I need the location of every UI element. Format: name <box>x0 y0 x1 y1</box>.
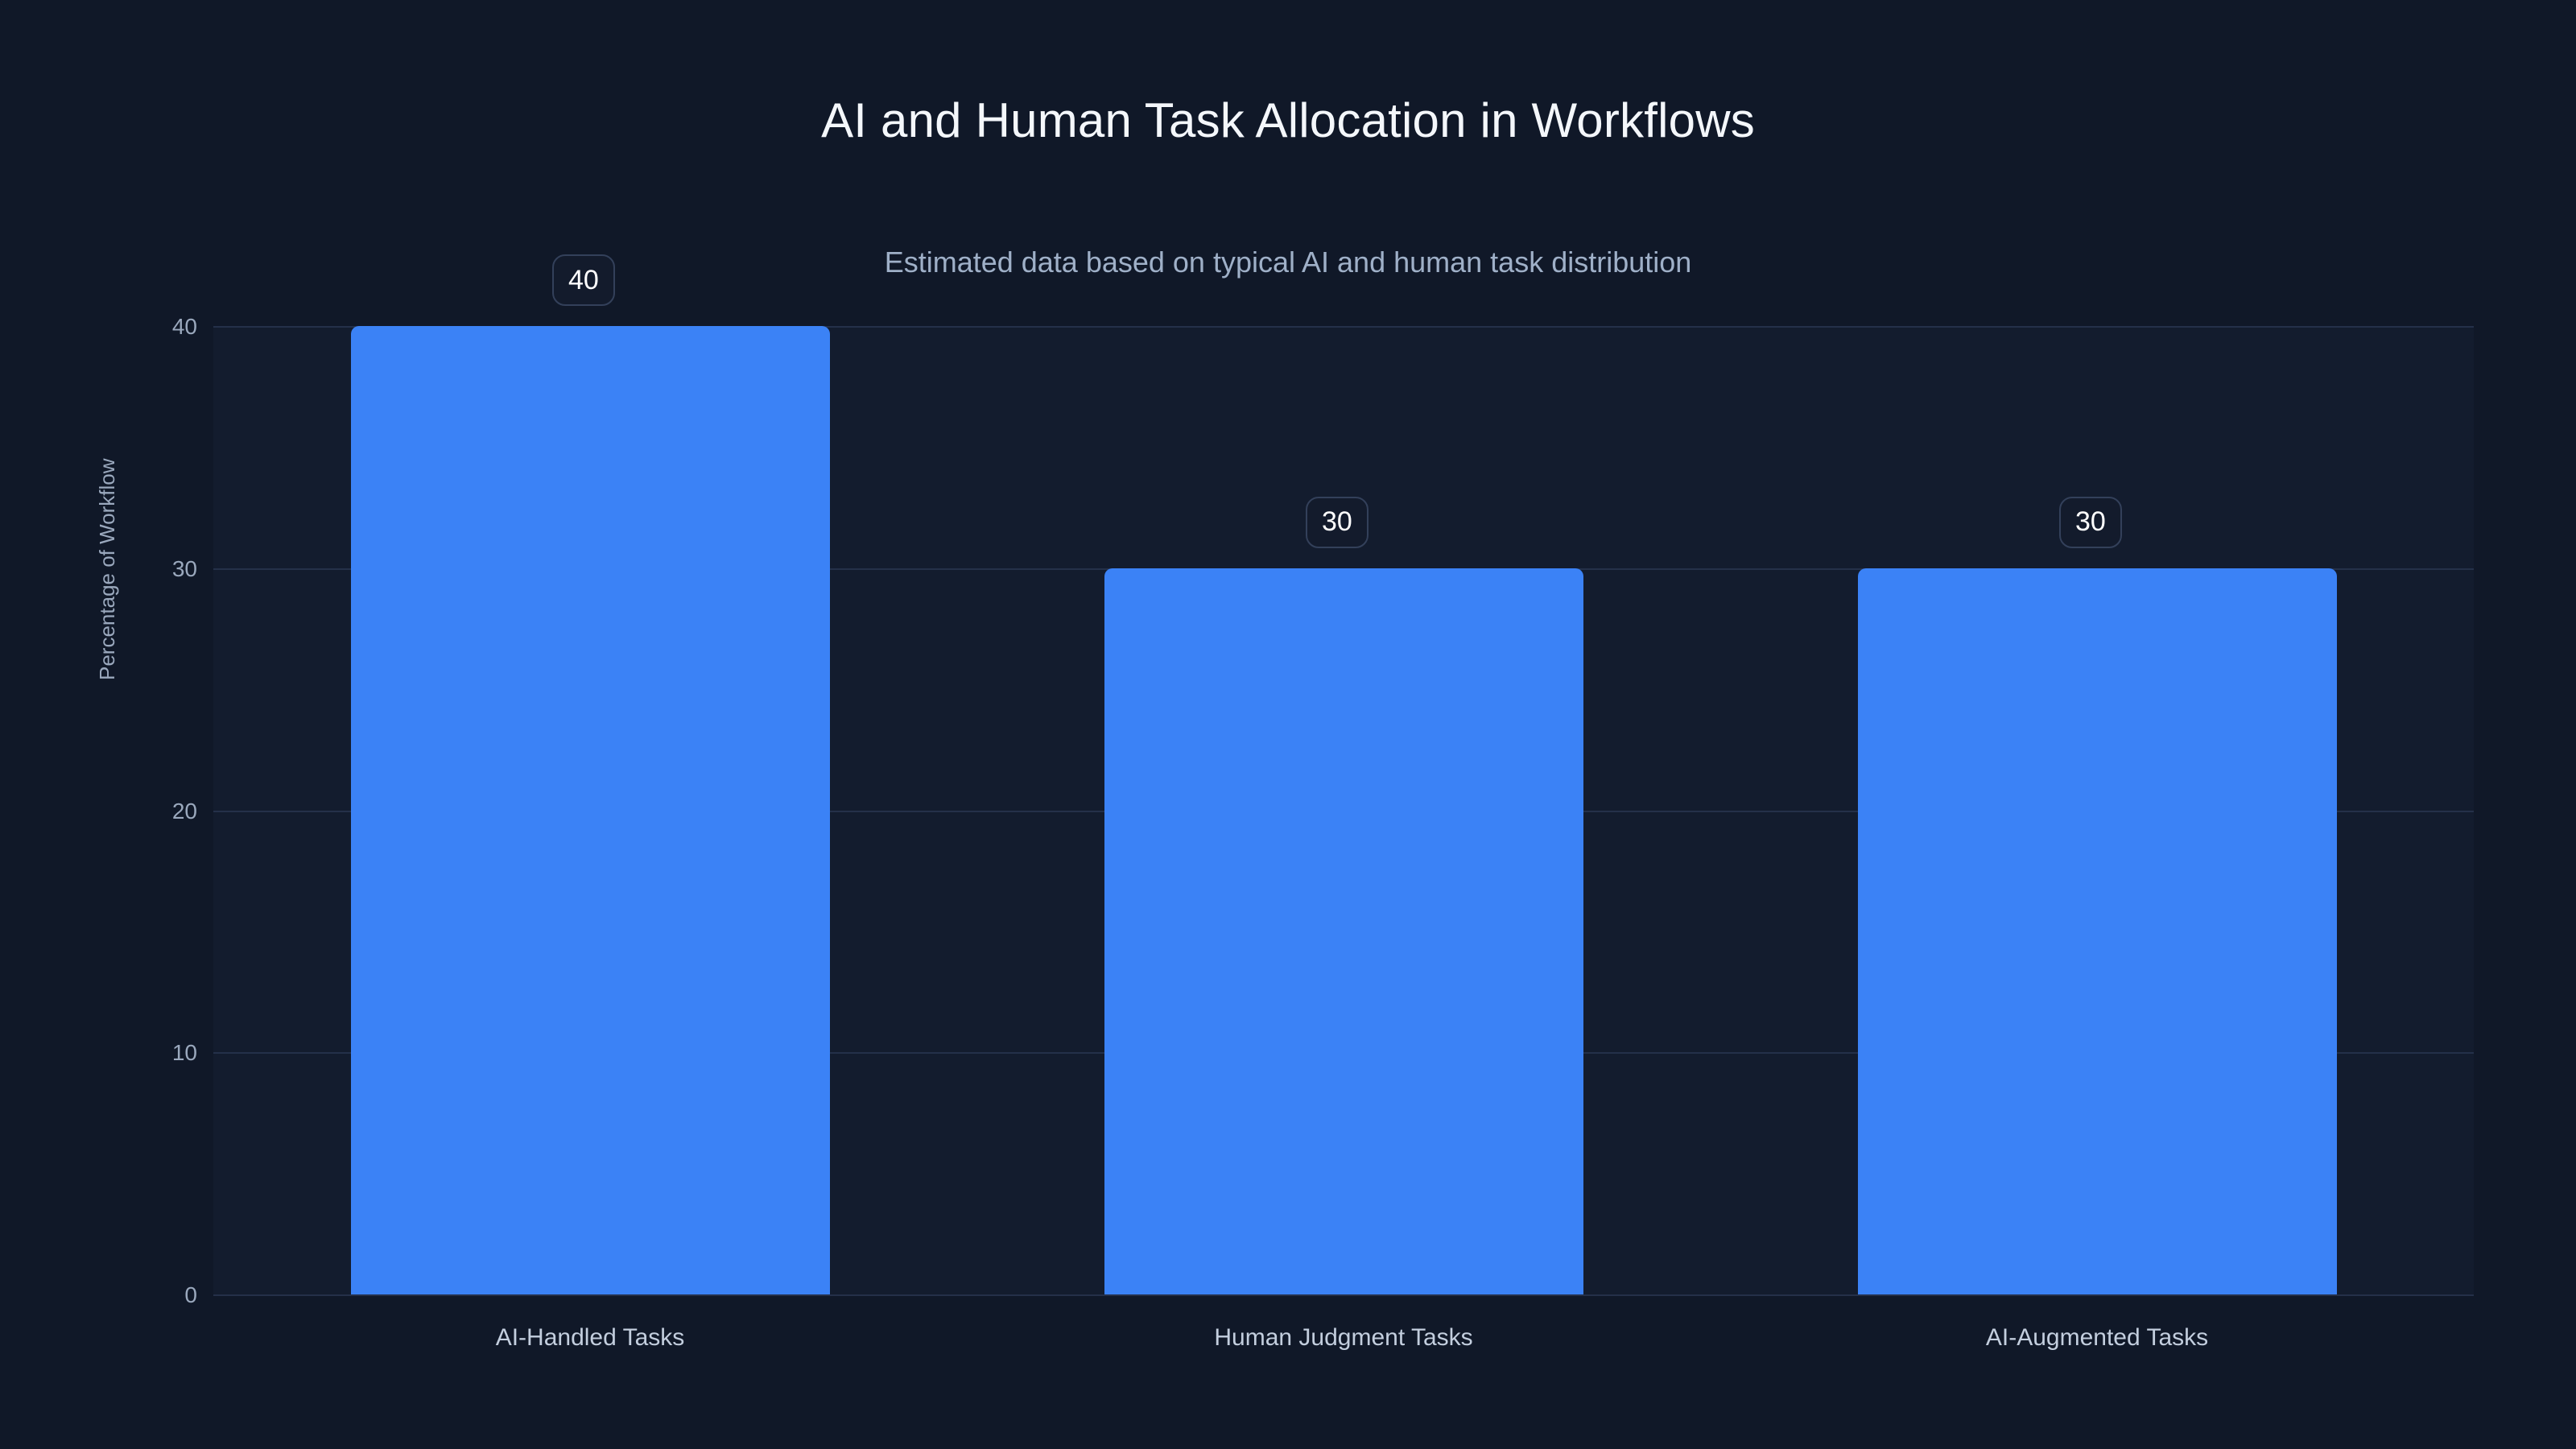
y-tick-label-10: 10 <box>141 1040 197 1066</box>
bar-chart: AI and Human Task Allocation in Workflow… <box>0 0 2576 1449</box>
y-tick-label-20: 20 <box>141 799 197 824</box>
y-tick-label-0: 0 <box>141 1282 197 1308</box>
chart-subtitle: Estimated data based on typical AI and h… <box>0 246 2576 279</box>
bar-human-judgment-tasks[interactable] <box>1104 568 1583 1294</box>
value-badge-human-judgment-tasks: 30 <box>1306 497 1368 548</box>
axis-baseline <box>213 1294 2474 1296</box>
x-tick-label-ai-handled-tasks: AI-Handled Tasks <box>496 1324 685 1352</box>
x-tick-label-human-judgment-tasks: Human Judgment Tasks <box>1214 1324 1472 1352</box>
value-badge-ai-augmented-tasks: 30 <box>2059 497 2122 548</box>
bar-ai-augmented-tasks[interactable] <box>1858 568 2337 1294</box>
bar-ai-handled-tasks[interactable] <box>351 326 830 1294</box>
x-tick-label-ai-augmented-tasks: AI-Augmented Tasks <box>1986 1324 2208 1352</box>
y-axis-title: Percentage of Workflow <box>95 458 120 680</box>
y-tick-label-40: 40 <box>141 314 197 340</box>
y-tick-label-30: 30 <box>141 556 197 582</box>
chart-title: AI and Human Task Allocation in Workflow… <box>0 93 2576 148</box>
value-badge-ai-handled-tasks: 40 <box>552 254 615 306</box>
